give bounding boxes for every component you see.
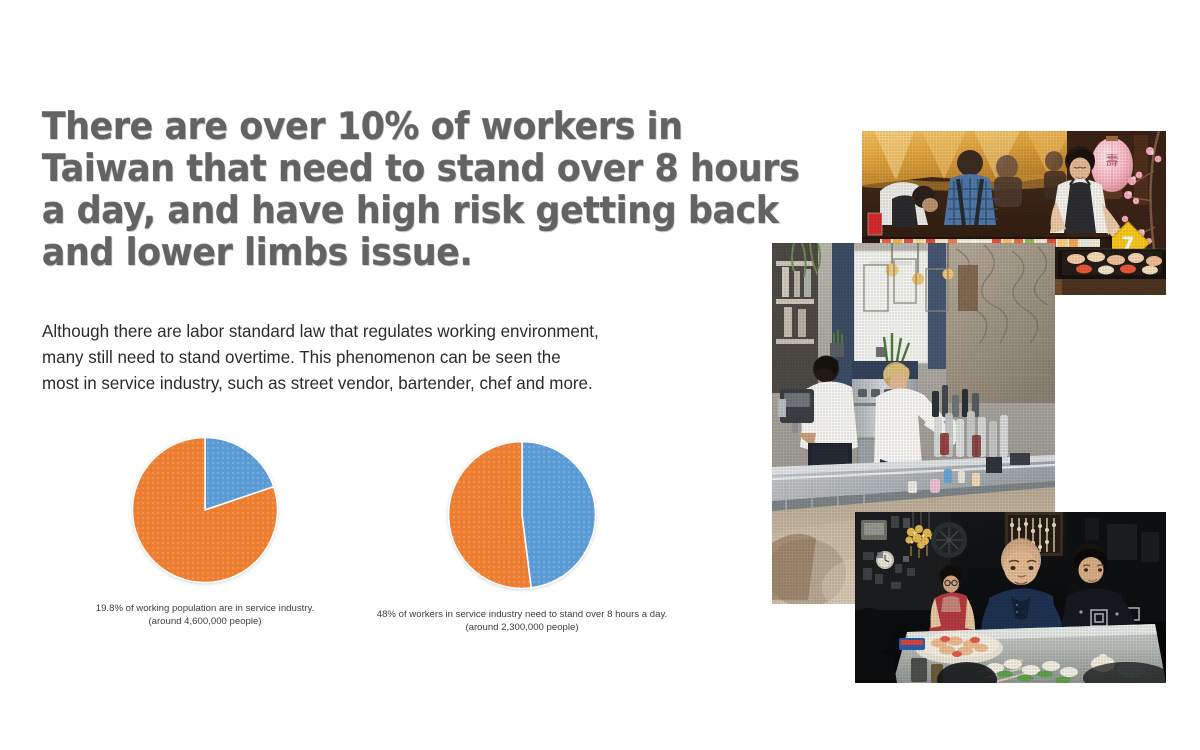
street-vendor-stall-photo [855, 512, 1166, 683]
pie-slice [522, 442, 595, 588]
pie-chart-1-caption: 19.8% of working population are in servi… [60, 602, 350, 628]
street-vendor-stall-illustration [855, 512, 1166, 683]
pie-chart-1-slices [132, 437, 277, 582]
page-title: There are over 10% of workers in Taiwan … [42, 106, 738, 274]
pie-chart-2-caption: 48% of workers in service industry need … [352, 608, 692, 634]
body-line-1: Although there are labor standard law th… [42, 318, 731, 344]
body-line-3: most in service industry, such as street… [42, 370, 731, 396]
pie-chart-service-industry: 19.8% of working population are in servi… [60, 432, 350, 628]
headline-line-1: There are over 10% of workers in [42, 106, 738, 148]
pie-chart-1-caption-line-1: 19.8% of working population are in servi… [60, 602, 350, 615]
headline-line-2: Taiwan that need to stand over 8 hours [42, 148, 738, 190]
body-paragraph: Although there are labor standard law th… [42, 318, 731, 396]
pie-chart-2-caption-line-2: (around 2,300,000 people) [352, 621, 692, 634]
pie-chart-stand-8-hours: 48% of workers in service industry need … [352, 436, 692, 634]
pie-chart-1-caption-line-2: (around 4,600,000 people) [60, 615, 350, 628]
slide-canvas: There are over 10% of workers in Taiwan … [0, 0, 1200, 750]
pie-chart-1-graphic [127, 432, 283, 588]
pie-chart-1-svg [127, 432, 283, 588]
body-line-2: many still need to stand overtime. This … [42, 344, 731, 370]
pie-chart-2-graphic [443, 436, 601, 594]
pie-chart-2-svg [443, 436, 601, 594]
headline-line-4: and lower limbs issue. [42, 232, 738, 274]
svg-text:壽: 壽 [1105, 154, 1118, 169]
pie-chart-2-caption-line-1: 48% of workers in service industry need … [352, 608, 692, 621]
pie-slice [449, 442, 532, 589]
pie-chart-2-slices [449, 442, 596, 589]
headline-line-3: a day, and have high risk getting back [42, 190, 738, 232]
